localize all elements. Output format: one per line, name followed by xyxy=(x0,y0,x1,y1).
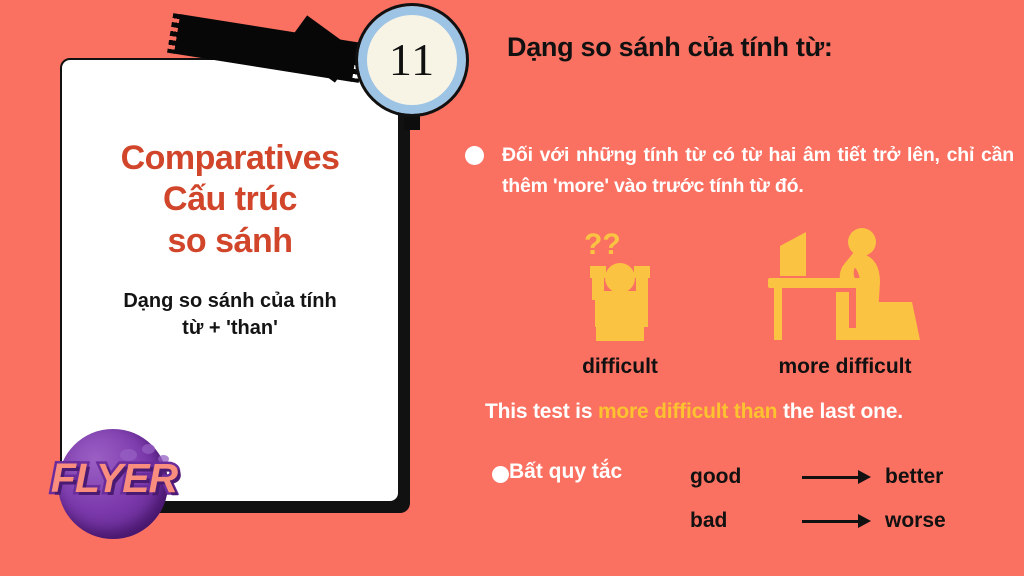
bullet-dot-icon xyxy=(465,146,484,165)
lesson-number: 11 xyxy=(389,37,435,83)
page-title: Dạng so sánh của tính từ: xyxy=(507,32,833,63)
irregular-to: better xyxy=(885,465,943,489)
card-subtitle-line-2: từ + 'than' xyxy=(85,315,375,342)
illustrations: ?? difficult xyxy=(455,228,1024,388)
person-at-laptop-icon xyxy=(758,228,933,346)
example-after: the last one. xyxy=(777,400,903,423)
bullet-text: Đối với những tính từ có từ hai âm tiết … xyxy=(502,140,1014,202)
illustration-more-difficult: more difficult xyxy=(730,228,960,379)
flyer-logo: FLYER xyxy=(30,425,198,543)
flyer-logo-text: FLYER xyxy=(30,455,198,502)
crater-icon xyxy=(142,444,155,454)
card-title-line-3: so sánh xyxy=(62,221,398,262)
example-sentence: This test is more difficult than the las… xyxy=(485,400,1024,424)
irregular-label-text: Bất quy tắc xyxy=(509,460,622,483)
right-content: Dạng so sánh của tính từ: Đối với những … xyxy=(455,0,1024,576)
irregular-row: bad worse xyxy=(690,499,1010,543)
irregular-label: Bất quy tắc xyxy=(491,460,622,484)
irregular-from: bad xyxy=(690,509,800,533)
svg-text:??: ?? xyxy=(584,228,621,261)
example-before: This test is xyxy=(485,400,598,423)
irregular-row: good better xyxy=(690,455,1010,499)
card-title: Comparatives Cấu trúc so sánh xyxy=(62,138,398,262)
slide-canvas: Comparatives Cấu trúc so sánh Dạng so sá… xyxy=(0,0,1024,576)
irregular-from: good xyxy=(690,465,800,489)
illustration-caption: more difficult xyxy=(730,355,960,379)
card-title-line-1: Comparatives xyxy=(62,138,398,179)
irregular-rows: good better bad worse xyxy=(690,455,1010,543)
lesson-number-badge: 11 xyxy=(358,6,466,114)
card-subtitle: Dạng so sánh của tính từ + 'than' xyxy=(85,288,375,342)
arrow-right-icon xyxy=(800,469,885,485)
irregular-to: worse xyxy=(885,509,946,533)
illustration-caption: difficult xyxy=(530,355,710,379)
example-highlight: more difficult than xyxy=(598,400,777,423)
illustration-difficult: ?? difficult xyxy=(530,228,710,379)
arrow-right-icon xyxy=(800,513,885,529)
card-title-line-2: Cấu trúc xyxy=(62,179,398,220)
bullet-point: Đối với những tính từ có từ hai âm tiết … xyxy=(465,140,1017,202)
confused-person-icon: ?? xyxy=(560,228,680,346)
card-subtitle-line-1: Dạng so sánh của tính xyxy=(85,288,375,315)
